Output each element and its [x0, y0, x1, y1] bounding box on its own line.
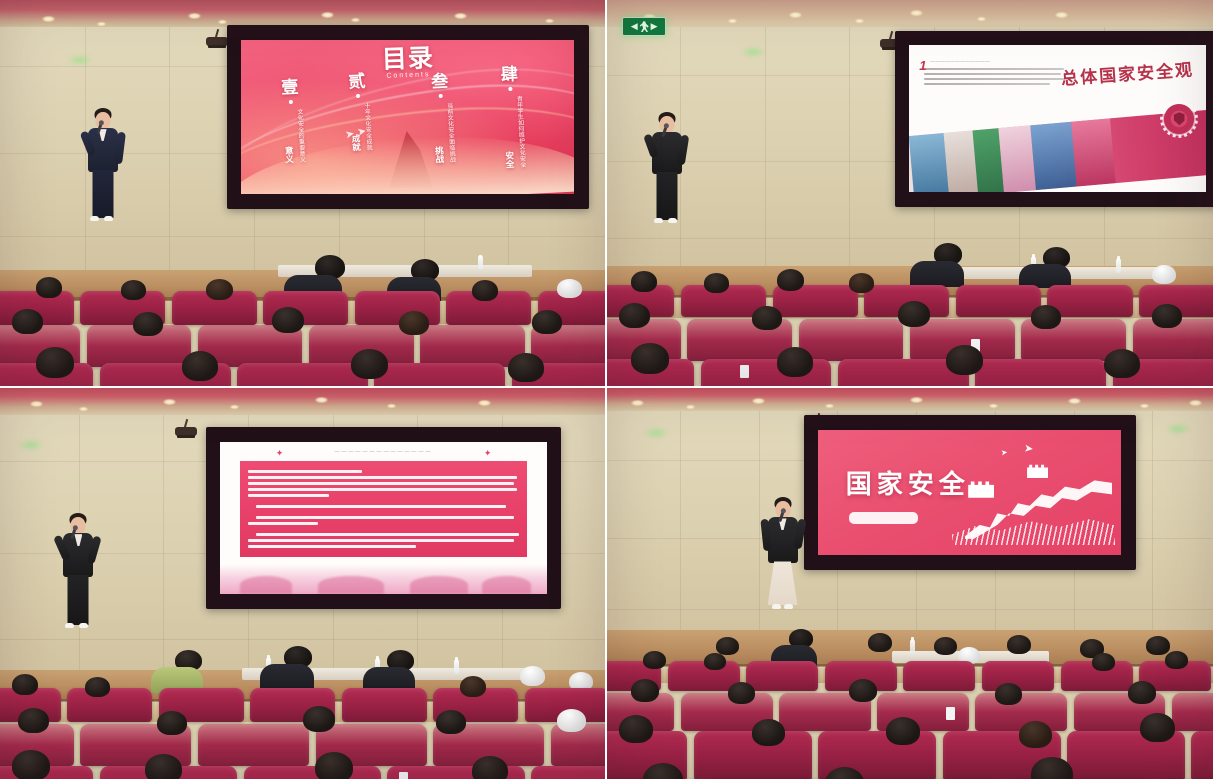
- bird-icon: ➤: [1000, 448, 1008, 457]
- auditorium-seat[interactable]: [342, 688, 427, 722]
- toc-item-desc: 文化安全的重要意义: [295, 108, 304, 162]
- phone-screen: [740, 365, 749, 378]
- audience-head: [157, 711, 187, 735]
- slide-table-of-contents: ➤➤ 目录 Contents 壹 意义 文化安全的重要意义: [241, 40, 574, 194]
- audience-head: [12, 674, 38, 695]
- photo-panel-bottom-right: 国家安全 ➤ ➤: [607, 388, 1213, 779]
- national-emblem-icon: [1164, 104, 1194, 134]
- audience-head: [145, 754, 182, 779]
- auditorium-seat[interactable]: [1172, 693, 1213, 731]
- toc-item-list: 壹 意义 文化安全的重要意义 贰 成就 十年文化安全成就: [241, 40, 574, 194]
- ceiling-light: [977, 17, 986, 21]
- audience-head: [36, 347, 74, 378]
- water-bottle: [478, 256, 483, 270]
- audience-head: [133, 312, 163, 336]
- auditorium-seat[interactable]: [1191, 731, 1213, 779]
- audience-head: [868, 633, 892, 652]
- water-bottle: [910, 640, 915, 654]
- audience-head: [619, 303, 650, 328]
- audience-head: [472, 280, 498, 301]
- audience-head: [460, 676, 486, 697]
- audience-head: [631, 271, 657, 292]
- seat-row: [0, 724, 605, 768]
- ceiling-light: [30, 401, 43, 407]
- audience-head: [631, 343, 669, 374]
- auditorium-room: 国家安全 ➤ ➤: [607, 388, 1213, 779]
- slide-calligraphy-title: 总体国家安全观: [1061, 55, 1195, 89]
- audience-area: [607, 607, 1213, 779]
- audience-head-cap: [557, 709, 586, 732]
- audience-head-cap: [1152, 265, 1176, 284]
- audience-head: [1165, 651, 1188, 669]
- screen-display: ✦ ✦ ——————————————: [220, 442, 547, 594]
- toc-item-desc: 当前文化安全面临挑战: [445, 102, 455, 162]
- audience-head: [85, 677, 110, 697]
- hillside-hatching: [952, 510, 1116, 545]
- bullet-dot-icon: [356, 93, 360, 97]
- auditorium-seat[interactable]: [531, 766, 605, 779]
- audience-head: [532, 310, 562, 334]
- slide-text-block: 1 ————————————: [924, 59, 1067, 88]
- audience-head: [752, 306, 782, 330]
- seat-row: [0, 766, 605, 779]
- wall-light-speckle: [67, 54, 93, 66]
- ceiling-light: [910, 397, 923, 403]
- audience-head: [206, 279, 233, 300]
- auditorium-seat[interactable]: [799, 319, 904, 361]
- arrow-right-icon: ▶: [651, 22, 658, 31]
- ceiling-light: [478, 400, 491, 406]
- audience-head: [995, 683, 1022, 705]
- ceiling-light: [79, 407, 88, 411]
- auditorium-seat[interactable]: [198, 724, 309, 766]
- toc-item-number: 壹: [279, 79, 301, 97]
- auditorium-seat[interactable]: [67, 688, 152, 722]
- audience-shoulders: [260, 664, 314, 690]
- audience-head: [1104, 349, 1140, 378]
- audience-head: [716, 637, 739, 655]
- photo-collage: ➤➤ 目录 Contents 壹 意义 文化安全的重要意义: [0, 0, 1213, 779]
- audience-head: [704, 273, 729, 293]
- toc-item-label: 安全: [503, 151, 514, 168]
- ceiling-light: [188, 13, 201, 19]
- presentation-screen: 国家安全 ➤ ➤: [804, 415, 1136, 569]
- audience-head: [1019, 721, 1052, 748]
- audience-head: [704, 653, 726, 670]
- toc-item-number: 贰: [346, 73, 368, 91]
- audience-head: [36, 277, 62, 298]
- audience-head: [508, 353, 544, 382]
- audience-shoulders: [910, 261, 964, 287]
- speaker-skirt: [768, 561, 798, 605]
- toc-item-1: 壹 意义 文化安全的重要意义: [279, 79, 305, 167]
- bullet-dot-icon: [438, 93, 442, 97]
- watchtower-icon: [1027, 463, 1048, 478]
- audience-head: [182, 351, 218, 381]
- phone-screen: [399, 772, 408, 779]
- audience-head: [303, 706, 335, 732]
- audience-head: [619, 715, 653, 743]
- auditorium-seat[interactable]: [956, 285, 1041, 317]
- audience-head: [1152, 304, 1182, 328]
- ceiling-light: [631, 400, 644, 406]
- audience-head: [1007, 635, 1031, 654]
- slide-overall-national-security: 1 ———————————— 总体国家安全观: [909, 45, 1206, 192]
- bullet-dot-icon: [289, 100, 293, 104]
- speaker-shoe-right: [79, 623, 88, 628]
- slide-text-block: [240, 461, 528, 557]
- audience-head: [631, 679, 659, 702]
- audience-head: [849, 679, 877, 702]
- wall-light-speckle: [18, 439, 44, 451]
- auditorium-seat[interactable]: [237, 363, 368, 386]
- audience-head-cap: [557, 279, 582, 298]
- audience-head: [399, 311, 429, 335]
- water-bottle: [454, 660, 459, 674]
- toc-item-number: 肆: [498, 67, 520, 85]
- audience-head: [777, 347, 813, 377]
- ceiling-light: [351, 18, 360, 22]
- slide-heading: ————————————: [930, 59, 1067, 64]
- toc-item-label: 成就: [349, 134, 360, 151]
- speaker-shoe-left: [90, 216, 99, 221]
- toc-item-label: 意义: [283, 146, 294, 163]
- auditorium-room: ➤➤ 目录 Contents 壹 意义 文化安全的重要意义: [0, 0, 605, 386]
- auditorium-room: ◀ ▶ 1 ————————————: [607, 0, 1213, 386]
- auditorium-seat[interactable]: [975, 359, 1106, 386]
- audience-head: [728, 682, 755, 704]
- audience-head: [12, 750, 50, 779]
- toc-item-4: 肆 安全 青年学生如何维护文化安全: [498, 67, 525, 173]
- slide-body-lines: [924, 68, 1067, 85]
- audience-area: [0, 255, 605, 386]
- bullet-dot-icon: [508, 87, 512, 91]
- ceiling-light: [321, 12, 334, 18]
- water-bottle: [1116, 259, 1121, 273]
- auditorium-seat[interactable]: [244, 766, 381, 779]
- photo-panel-bottom-left: ✦ ✦ ——————————————: [0, 388, 607, 779]
- screen-display: 国家安全 ➤ ➤: [818, 430, 1121, 555]
- slide-footer-decoration: [220, 564, 547, 594]
- ceiling: [0, 388, 605, 415]
- audience-area: [607, 243, 1213, 386]
- screen-display: 1 ———————————— 总体国家安全观: [909, 45, 1206, 192]
- auditorium-seat[interactable]: [374, 363, 505, 386]
- speaker-shoe-left: [654, 218, 663, 223]
- toc-item-number: 叁: [429, 73, 451, 91]
- speaker-shoe-right: [668, 218, 677, 223]
- screen-display: ➤➤ 目录 Contents 壹 意义 文化安全的重要意义: [241, 40, 574, 194]
- audience-head: [12, 309, 43, 334]
- audience-head: [121, 280, 146, 300]
- audience-head: [472, 756, 508, 779]
- audience-head-cap: [520, 666, 545, 686]
- audience-head: [643, 651, 666, 669]
- ceiling-light: [1068, 398, 1081, 404]
- audience-head: [886, 717, 920, 745]
- auditorium-seat[interactable]: [746, 661, 818, 691]
- bird-icon: ➤: [1023, 444, 1033, 456]
- running-person-icon: [640, 21, 649, 32]
- phone-screen: [946, 707, 955, 720]
- speaker-shoe-left: [65, 623, 74, 628]
- audience-head: [18, 708, 49, 733]
- ceiling-light: [218, 20, 227, 24]
- toc-item-3: 叁 挑战 当前文化安全面临挑战: [429, 73, 455, 167]
- audience-head: [1140, 713, 1175, 742]
- section-number-icon: 1: [919, 58, 926, 73]
- great-wall-illustration: ➤ ➤: [952, 442, 1116, 545]
- ceiling-light: [545, 19, 554, 23]
- toc-item-label: 挑战: [432, 146, 443, 163]
- audience-head: [1031, 305, 1061, 329]
- toc-item-desc: 十年文化安全成就: [362, 102, 371, 150]
- audience-head: [777, 269, 804, 291]
- audience-head: [436, 710, 466, 734]
- audience-head: [946, 345, 983, 375]
- watchtower-icon: [968, 479, 994, 497]
- photo-panel-top-right: ◀ ▶ 1 ————————————: [607, 0, 1213, 388]
- wall-light-speckle: [1165, 423, 1191, 435]
- speaker-legs: [92, 170, 113, 218]
- audience-area: [0, 646, 605, 779]
- audience-head: [272, 307, 304, 333]
- presentation-screen: 1 ———————————— 总体国家安全观: [895, 31, 1213, 207]
- presentation-screen: ✦ ✦ ——————————————: [206, 427, 562, 609]
- presentation-screen: ➤➤ 目录 Contents 壹 意义 文化安全的重要意义: [227, 25, 589, 208]
- audience-head: [898, 301, 930, 327]
- ceiling-light: [855, 19, 864, 23]
- audience-head: [1128, 681, 1156, 704]
- speaker-shoe-right: [104, 216, 113, 221]
- seat-row: [607, 661, 1213, 693]
- slide-national-security-title: 国家安全 ➤ ➤: [818, 430, 1121, 555]
- auditorium-room: ✦ ✦ ——————————————: [0, 388, 605, 779]
- audience-head: [351, 349, 388, 379]
- slide-subtitle-bar: [849, 512, 919, 523]
- photo-panel-top-left: ➤➤ 目录 Contents 壹 意义 文化安全的重要意义: [0, 0, 607, 388]
- arrow-left-icon: ◀: [631, 22, 638, 31]
- audience-head: [752, 719, 785, 746]
- ceiling-light: [454, 13, 467, 19]
- audience-head: [849, 273, 874, 293]
- audience-head: [1092, 653, 1115, 671]
- ceiling-light: [1189, 400, 1202, 406]
- emergency-exit-sign: ◀ ▶: [622, 17, 666, 36]
- speaker-legs: [68, 575, 89, 625]
- audience-head: [1146, 636, 1170, 655]
- toc-item-2: 贰 成就 十年文化安全成就: [346, 73, 372, 155]
- toc-item-desc: 青年学生如何维护文化安全: [515, 96, 525, 168]
- speaker-legs: [657, 172, 678, 220]
- audience-head: [315, 752, 353, 779]
- ceiling-light: [989, 404, 998, 408]
- auditorium-seat[interactable]: [903, 661, 975, 691]
- ceiling-light: [97, 22, 106, 26]
- slide-heading: ——————————————: [220, 449, 547, 455]
- ceiling: [0, 0, 605, 27]
- ceiling-light: [910, 10, 923, 16]
- slide-dense-text: ✦ ✦ ——————————————: [220, 442, 547, 594]
- audience-head: [934, 637, 957, 655]
